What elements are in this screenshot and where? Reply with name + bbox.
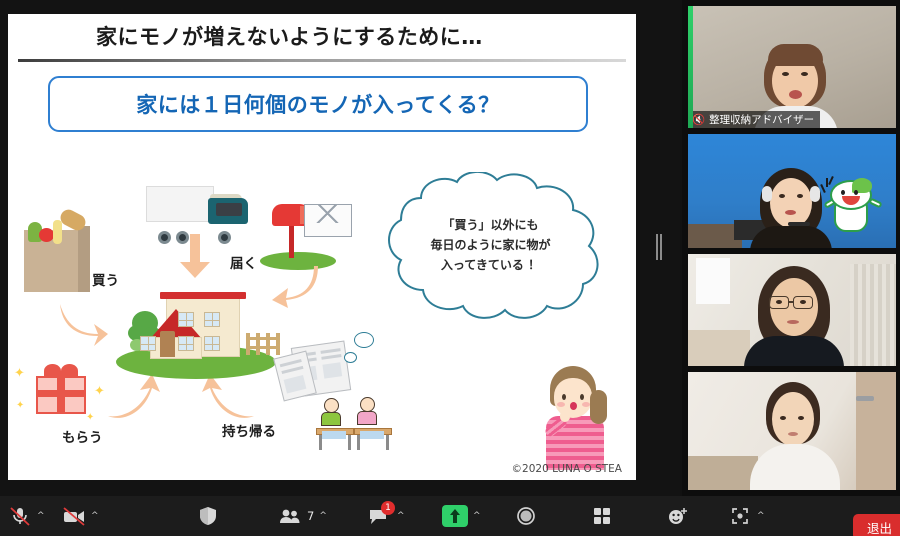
video-button[interactable]: ^ bbox=[62, 496, 99, 536]
presentation-slide: 家にモノが増えないようにするために… 家には１日何個のモノが入ってくる？ 買う bbox=[8, 14, 636, 480]
meeting-toolbar: ^ ^ bbox=[0, 496, 900, 536]
window-object bbox=[696, 258, 730, 304]
apps-caret[interactable]: ^ bbox=[757, 511, 765, 521]
breakout-rooms-button[interactable] bbox=[590, 496, 614, 536]
camera-off-icon bbox=[62, 506, 86, 526]
thinking-girl-illustration bbox=[540, 366, 618, 470]
participant-name-1: 整理収納アドバイザー bbox=[709, 112, 814, 127]
question-box: 家には１日何個のモノが入ってくる？ bbox=[48, 76, 588, 132]
mute-button[interactable]: ^ bbox=[8, 496, 45, 536]
apps-bracket-icon bbox=[728, 506, 752, 526]
reactions-smiley-icon bbox=[666, 506, 690, 526]
participant-tile-4[interactable] bbox=[688, 372, 896, 490]
shield-icon bbox=[196, 506, 220, 526]
sparkle-icon: ✦ bbox=[14, 366, 25, 381]
arrow-newspaper-to-house bbox=[198, 372, 256, 420]
chat-button[interactable]: 1 ^ bbox=[368, 496, 405, 536]
reactions-button[interactable] bbox=[666, 496, 690, 536]
panel-resize-handle[interactable] bbox=[655, 234, 663, 260]
door-handle-icon bbox=[856, 396, 874, 401]
thought-tail-small bbox=[344, 352, 357, 363]
headset-icon bbox=[762, 186, 772, 202]
share-screen-button[interactable]: ^ bbox=[442, 496, 481, 536]
question-text: 家には１日何個のモノが入ってくる？ bbox=[136, 89, 499, 119]
security-button[interactable] bbox=[196, 496, 220, 536]
title-divider bbox=[18, 59, 626, 62]
participants-icon bbox=[278, 506, 302, 526]
bed-object bbox=[688, 456, 758, 490]
door-object bbox=[856, 372, 896, 490]
arrow-mail-to-house bbox=[270, 264, 318, 308]
envelope-icon bbox=[304, 204, 352, 237]
participant-tile-1[interactable]: 🔇 整理収納アドバイザー bbox=[688, 6, 896, 128]
share-caret[interactable]: ^ bbox=[473, 511, 481, 521]
glasses-bridge bbox=[788, 301, 794, 303]
thought-bubble: 「買う」以外にも毎日のように家に物が入ってきている ！ bbox=[363, 172, 618, 332]
mute-options-caret[interactable]: ^ bbox=[37, 511, 45, 521]
label-buy: 買う bbox=[92, 269, 119, 289]
participants-count: 7 bbox=[307, 509, 314, 523]
sparkle-icon: ✦ bbox=[94, 384, 105, 399]
avatar-face bbox=[772, 392, 814, 446]
furniture-object bbox=[688, 330, 750, 366]
sparkle-icon: ✦ bbox=[86, 412, 94, 423]
participant-tile-3[interactable] bbox=[688, 254, 896, 366]
thought-bubble-line: 毎日のように家に物が bbox=[363, 236, 618, 256]
avatar-body bbox=[744, 336, 844, 366]
microphone-muted-icon bbox=[8, 506, 32, 526]
blinds-object bbox=[850, 264, 896, 366]
leave-meeting-button[interactable]: 退出 bbox=[853, 514, 900, 536]
zoom-meeting-window: 家にモノが増えないようにするために… 家には１日何個のモノが入ってくる？ 買う bbox=[0, 0, 900, 536]
headset-icon bbox=[810, 186, 820, 202]
thought-tail-large bbox=[354, 332, 374, 348]
label-bring-home: 持ち帰る bbox=[222, 420, 276, 440]
copyright-notice: ©2020 LUNA O STEA bbox=[512, 463, 622, 475]
avatar-face bbox=[770, 178, 812, 228]
sparkle-icon: ✦ bbox=[16, 400, 24, 411]
participants-caret[interactable]: ^ bbox=[319, 511, 327, 521]
chat-unread-badge: 1 bbox=[381, 501, 395, 515]
arrow-bag-to-house bbox=[58, 302, 108, 348]
share-screen-icon bbox=[442, 505, 468, 527]
fence-icon bbox=[246, 333, 280, 355]
grid-apps-icon bbox=[590, 506, 614, 526]
avatar-fringe bbox=[768, 44, 823, 66]
shared-screen-stage[interactable]: 家にモノが増えないようにするために… 家には１日何個のモノが入ってくる？ 買う bbox=[0, 0, 680, 496]
video-options-caret[interactable]: ^ bbox=[91, 511, 99, 521]
label-receive: もらう bbox=[62, 426, 103, 446]
thought-bubble-line: 入ってきている ！ bbox=[363, 256, 618, 276]
mascot-character-icon bbox=[826, 178, 878, 242]
thought-bubble-line: 「買う」以外にも bbox=[363, 216, 618, 236]
apps-button[interactable]: ^ bbox=[728, 496, 765, 536]
gift-box-icon bbox=[30, 362, 92, 418]
participants-button[interactable]: 7 ^ bbox=[278, 496, 327, 536]
shopping-bag-icon bbox=[24, 210, 90, 292]
mic-muted-icon: 🔇 bbox=[692, 113, 705, 126]
participant-video-strip: 🔇 整理収納アドバイザー bbox=[682, 0, 900, 496]
avatar-body bbox=[750, 226, 832, 248]
school-children-icon bbox=[316, 386, 402, 450]
chat-icon: 1 bbox=[368, 506, 392, 526]
arrow-gift-to-house bbox=[106, 372, 162, 420]
participant-name-label-1: 🔇 整理収納アドバイザー bbox=[688, 111, 820, 128]
record-button[interactable] bbox=[514, 496, 538, 536]
chat-caret[interactable]: ^ bbox=[397, 511, 405, 521]
slide-title: 家にモノが増えないようにするために… bbox=[96, 21, 483, 51]
participant-tile-2[interactable] bbox=[688, 134, 896, 248]
thought-bubble-text: 「買う」以外にも毎日のように家に物が入ってきている ！ bbox=[363, 216, 618, 275]
record-icon bbox=[514, 506, 538, 526]
slide-header: 家にモノが増えないようにするために… bbox=[8, 14, 636, 60]
house-illustration bbox=[116, 269, 276, 379]
